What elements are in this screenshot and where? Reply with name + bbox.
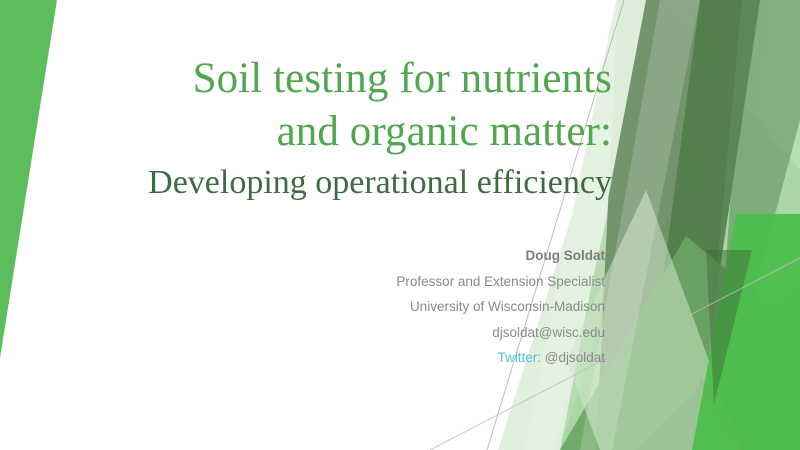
- title-line-1: Soil testing for nutrients: [60, 52, 612, 105]
- twitter-label: Twitter:: [497, 350, 541, 365]
- slide-title: Soil testing for nutrients and organic m…: [60, 52, 612, 206]
- title-line-2: and organic matter:: [60, 105, 612, 158]
- presentation-slide: Soil testing for nutrients and organic m…: [0, 0, 800, 450]
- presenter-affiliation: University of Wisconsin-Madison: [300, 294, 605, 320]
- slide-subtitle: Developing operational efficiency: [60, 160, 612, 206]
- twitter-handle: @djsoldat: [541, 350, 605, 365]
- presenter-twitter: Twitter: @djsoldat: [300, 345, 605, 371]
- presenter-role: Professor and Extension Specialist: [300, 269, 605, 295]
- presenter-contact-block: Doug Soldat Professor and Extension Spec…: [300, 243, 605, 371]
- presenter-name: Doug Soldat: [300, 243, 605, 269]
- slide-content: Soil testing for nutrients and organic m…: [0, 0, 800, 450]
- presenter-email: djsoldat@wisc.edu: [300, 320, 605, 346]
